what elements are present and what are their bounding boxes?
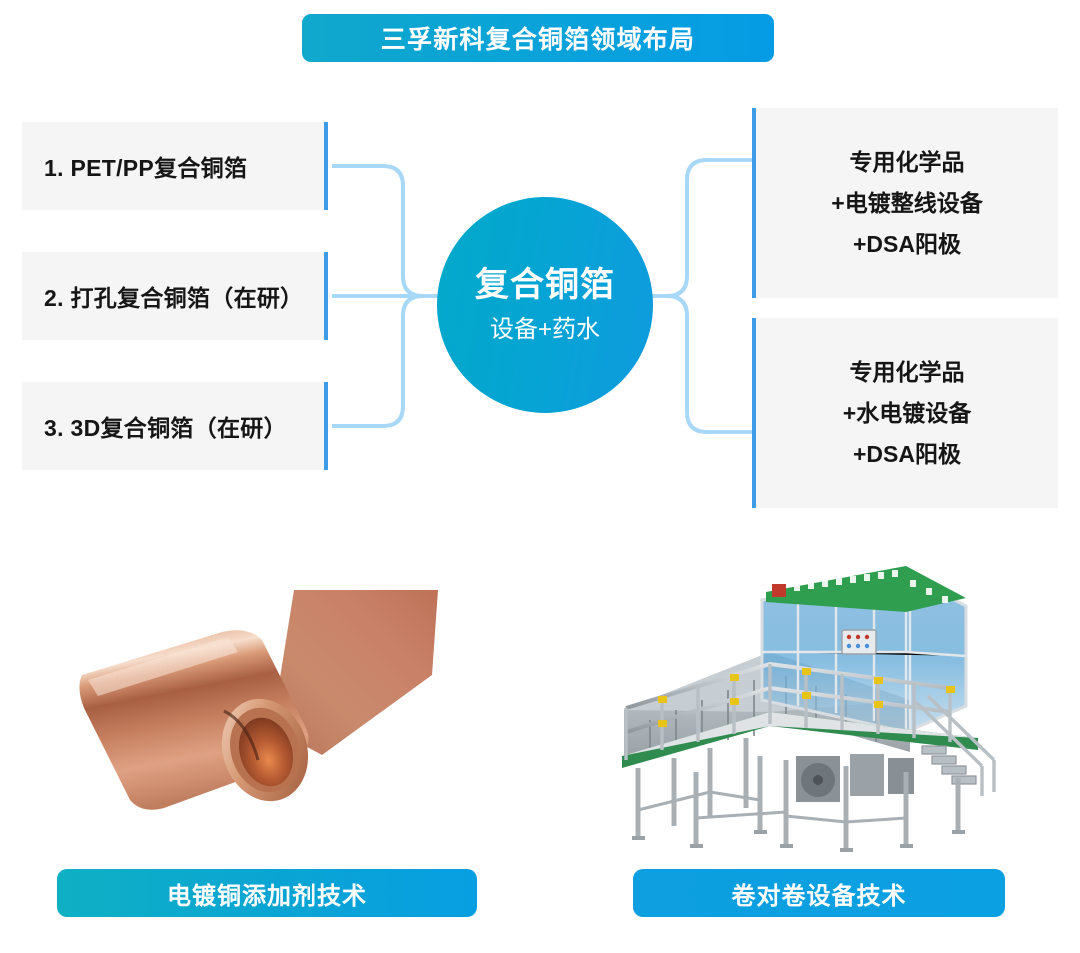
connector-left-1 — [332, 166, 423, 296]
machinery-cabinet-3 — [888, 758, 914, 794]
right-item-line: 专用化学品 — [850, 151, 965, 174]
support-cross-braces — [638, 792, 906, 822]
diagram-title-banner: 三孚新科复合铜箔领域布局 — [302, 14, 774, 62]
left-item-pet-pp-composite-copper-foil[interactable]: 1. PET/PP复合铜箔 — [22, 122, 328, 210]
support-feet — [632, 830, 965, 852]
left-item-label: 2. 打孔复合铜箔（在研） — [22, 279, 303, 313]
right-item-line: +DSA阳极 — [853, 233, 961, 256]
right-item-line: +DSA阳极 — [853, 443, 961, 466]
right-item-electroplating-full-line[interactable]: 专用化学品 +电镀整线设备 +DSA阳极 — [752, 108, 1058, 298]
control-panel — [842, 630, 876, 654]
control-panel-buttons — [847, 635, 869, 639]
copper-foil-roll-image — [72, 580, 472, 870]
right-item-line: +电镀整线设备 — [831, 192, 982, 215]
left-item-perforated-composite-copper-foil[interactable]: 2. 打孔复合铜箔（在研） — [22, 252, 328, 340]
left-item-label: 1. PET/PP复合铜箔 — [22, 149, 247, 183]
center-node-title: 复合铜箔 — [475, 268, 615, 302]
roll-to-roll-plating-line-image — [610, 560, 1030, 870]
control-panel-buttons-row2 — [847, 644, 869, 648]
right-item-water-electroplating-equipment[interactable]: 专用化学品 +水电镀设备 +DSA阳极 — [752, 318, 1058, 508]
connector-left-3 — [332, 296, 423, 426]
left-item-3d-composite-copper-foil[interactable]: 3. 3D复合铜箔（在研） — [22, 382, 328, 470]
machinery-cabinet-2 — [850, 754, 884, 796]
connector-right-1 — [667, 160, 756, 296]
caption-label: 卷对卷设备技术 — [732, 876, 907, 911]
page-title: 三孚新科复合铜箔领域布局 — [381, 20, 695, 56]
right-item-line: +水电镀设备 — [843, 402, 971, 425]
center-node-subtitle: 设备+药水 — [490, 318, 600, 342]
left-item-label: 3. 3D复合铜箔（在研） — [22, 409, 287, 443]
caption-electroplating-additive-technology: 电镀铜添加剂技术 — [57, 869, 477, 917]
right-item-line: 专用化学品 — [850, 361, 965, 384]
caption-label: 电镀铜添加剂技术 — [167, 876, 367, 911]
caption-roll-to-roll-equipment-technology: 卷对卷设备技术 — [633, 869, 1005, 917]
signage-logo — [772, 584, 786, 597]
connector-right-2 — [667, 296, 756, 432]
machinery-fan-hub — [813, 775, 823, 785]
center-node-composite-copper-foil: 复合铜箔 设备+药水 — [437, 197, 653, 413]
